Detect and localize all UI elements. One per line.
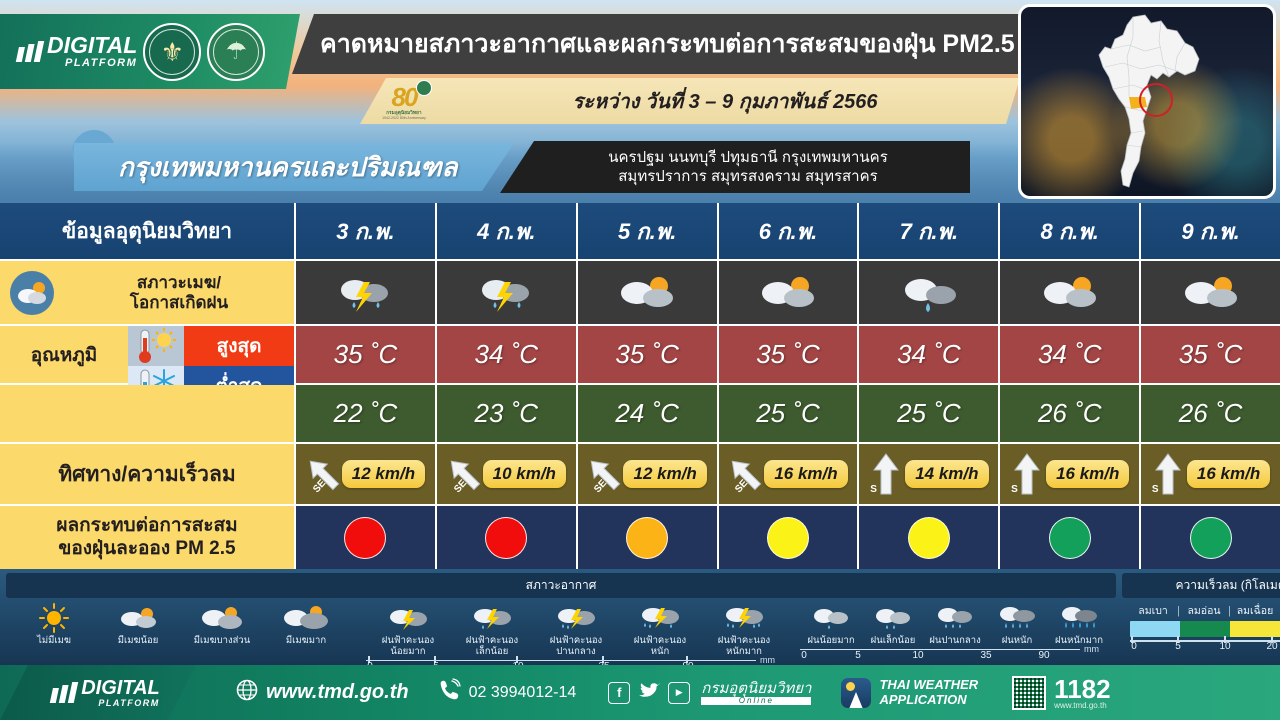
wind-row: ทิศทาง/ความเร็วลม SE 12 km/h SE	[0, 444, 1280, 506]
sky-legend: สภาวะอากาศ ไม่มีเมฆ	[6, 573, 1116, 665]
pm25-label-line-1: ผลกระทบต่อการสะสม	[56, 515, 237, 538]
thai-weather-app[interactable]: THAI WEATHER APPLICATION	[841, 678, 978, 708]
legend-rain-0: ฝนน้อยมาก	[800, 602, 862, 647]
app-name-line-1: THAI WEATHER	[879, 678, 978, 693]
pm25-cell-4	[859, 506, 1000, 569]
phone-icon	[437, 678, 461, 707]
temp-max-chip: สูงสุด	[128, 326, 294, 366]
pm25-level-dot	[1049, 517, 1091, 559]
highlight-circle-icon	[1139, 83, 1173, 117]
footer-logo-platform: PLATFORM	[81, 699, 160, 708]
thermometer-sun-icon	[128, 326, 184, 366]
sun-icon	[39, 602, 69, 634]
tmin-cell-3: 25 ˚C	[719, 385, 860, 442]
wind-cell-6: S 16 km/h	[1141, 444, 1280, 504]
thunderstorm-light-icon	[469, 602, 515, 634]
legend-storm-2: ฝนฟ้าคะนองปานกลาง	[534, 602, 618, 658]
wind-speed-pill: 16 km/h	[1046, 460, 1129, 488]
pm25-cell-1	[437, 506, 578, 569]
tmax-cell-3: 35 ˚C	[719, 326, 860, 383]
anniversary-sub: 1942-2022 80th Anniversary	[382, 116, 426, 120]
phone-contact[interactable]: 02 3994012-14	[437, 678, 577, 707]
temperature-label-group: อุณหภูมิ	[0, 326, 296, 383]
partly-cloudy-icon	[615, 272, 679, 314]
wind-scale: 0 5 10 20 30 Km/h	[1130, 639, 1280, 653]
rain-very-heavy-icon	[1058, 602, 1100, 634]
temperature-min-row: 22 ˚C 23 ˚C 24 ˚C 25 ˚C 25 ˚C 26 ˚C 26 ˚…	[0, 385, 1280, 444]
temperature-max-row: อุณหภูมิ	[0, 326, 1280, 385]
tmax-cell-2: 35 ˚C	[578, 326, 719, 383]
hotline-block: 1182 www.tmd.go.th	[1012, 676, 1110, 710]
rain-heavy-icon	[996, 602, 1038, 634]
wind-legend: ความเร็วลม (กิโลเมตร/ชั่วโมง) ลมเบา | ลม…	[1122, 573, 1280, 665]
hotline-url: www.tmd.go.th	[1054, 702, 1110, 710]
pm25-level-dot	[767, 517, 809, 559]
sky-cell-3	[719, 261, 860, 324]
tmax-cell-4: 34 ˚C	[859, 326, 1000, 383]
legend-rain-2: ฝนปานกลาง	[924, 602, 986, 647]
rain-scale: 0 5 10 35 90 mm	[800, 648, 1110, 662]
wind-direction-arrow-icon: SE	[306, 450, 340, 498]
pm25-cell-3	[719, 506, 860, 569]
tmin-cell-1: 23 ˚C	[437, 385, 578, 442]
wind-cell-2: SE 12 km/h	[578, 444, 719, 504]
website-link[interactable]: www.tmd.go.th	[236, 679, 409, 707]
day-header-1: 4 ก.พ.	[437, 203, 578, 259]
wind-direction-label: S	[1152, 484, 1159, 495]
wind-speed-pill: 12 km/h	[623, 460, 706, 488]
logo-text-platform: PLATFORM	[47, 58, 137, 69]
tmin-cell-6: 26 ˚C	[1141, 385, 1280, 442]
online-brand-tag: Online	[701, 697, 811, 705]
legend-cloud-1: มีเมฆน้อย	[96, 602, 180, 647]
logo-bars-icon	[16, 41, 44, 62]
wind-direction-arrow-icon: SE	[587, 450, 621, 498]
thunderstorm-very-heavy-icon	[721, 602, 767, 634]
website-text: www.tmd.go.th	[266, 681, 409, 704]
wind-direction-arrow-icon: SE	[447, 450, 481, 498]
sky-cell-1	[437, 261, 578, 324]
hotline-number: 1182	[1054, 676, 1110, 702]
wind-cell-4: S 14 km/h	[859, 444, 1000, 504]
wind-cell-1: SE 10 km/h	[437, 444, 578, 504]
legend-cloud-3: มีเมฆมาก	[264, 602, 348, 647]
province-line-1: นครปฐม นนทบุรี ปทุมธานี กรุงเทพมหานคร	[608, 148, 888, 167]
sky-row-label: สภาวะเมฆ/ โอกาสเกิดฝน	[0, 261, 296, 324]
partly-cloudy-icon	[1179, 272, 1243, 314]
legend-storm-1: ฝนฟ้าคะนองเล็กน้อย	[450, 602, 534, 658]
pm25-label-line-2: ของฝุ่นละออง PM 2.5	[56, 538, 237, 561]
footer-bar: DIGITAL PLATFORM www.tmd.go.th	[0, 665, 1280, 720]
rain-very-light-icon	[810, 602, 852, 634]
main-title-bar: คาดหมายสภาวะอากาศและผลกระทบต่อการสะสมของ…	[292, 14, 1032, 74]
wind-legend-title: ความเร็วลม (กิโลเมตร/ชั่วโมง)	[1122, 573, 1280, 598]
thunderstorm-moderate-icon	[553, 602, 599, 634]
youtube-icon[interactable]: ▶	[668, 682, 690, 704]
qr-code-icon[interactable]	[1012, 676, 1046, 710]
wind-direction-arrow-icon: S	[1151, 450, 1185, 498]
weather-infographic: DIGITAL PLATFORM ⚜ ☂ คาดหมายสภาวะอากาศแล…	[0, 0, 1280, 720]
rain-moderate-icon	[934, 602, 976, 634]
pm25-row: ผลกระทบต่อการสะสม ของฝุ่นละออง PM 2.5	[0, 506, 1280, 569]
wind-direction-label: S	[1011, 484, 1018, 495]
page-title: คาดหมายสภาวะอากาศและผลกระทบต่อการสะสมของ…	[320, 24, 1015, 64]
rain-light-icon	[872, 602, 914, 634]
tmin-cell-2: 24 ˚C	[578, 385, 719, 442]
legend-storm-4: ฝนฟ้าคะนองหนักมาก	[702, 602, 786, 658]
partly-cloudy-icon	[1038, 272, 1102, 314]
wind-cat-1: ลมอ่อน	[1181, 602, 1227, 619]
wind-speed-pill: 16 km/h	[764, 460, 847, 488]
social-links: f ▶ กรมอุตุนิยมวิทยา Online	[608, 680, 811, 705]
temp-max-label: สูงสุด	[184, 326, 294, 366]
legend-rain-3: ฝนหนัก	[986, 602, 1048, 647]
legend-cloud-0: ไม่มีเมฆ	[12, 602, 96, 647]
app-icon	[841, 678, 871, 708]
tmin-cell-0: 22 ˚C	[296, 385, 437, 442]
tmax-cell-0: 35 ˚C	[296, 326, 437, 383]
pm25-cell-5	[1000, 506, 1141, 569]
legend-rain-4: ฝนหนักมาก	[1048, 602, 1110, 647]
wind-cat-0: ลมเบา	[1130, 602, 1176, 619]
sky-cell-4	[859, 261, 1000, 324]
cloud-many-icon	[281, 602, 331, 634]
pm25-cell-0	[296, 506, 437, 569]
facebook-icon[interactable]: f	[608, 682, 630, 704]
royal-seal-icon: ⚜	[143, 23, 201, 81]
day-header-4: 7 ก.พ.	[859, 203, 1000, 259]
date-range-text: ระหว่าง วันที่ 3 – 9 กุมภาพันธ์ 2566	[503, 85, 878, 117]
temperature-label: อุณหภูมิ	[0, 326, 128, 383]
table-header-row: ข้อมูลอุตุนิยมวิทยา 3 ก.พ. 4 ก.พ. 5 ก.พ.…	[0, 203, 1280, 261]
table-corner-label: ข้อมูลอุตุนิยมวิทยา	[0, 203, 296, 259]
tmax-cell-1: 34 ˚C	[437, 326, 578, 383]
forecast-table: ข้อมูลอุตุนิยมวิทยา 3 ก.พ. 4 ก.พ. 5 ก.พ.…	[0, 203, 1280, 569]
thunderstorm-heavy-icon	[637, 602, 683, 634]
tmax-cell-5: 34 ˚C	[1000, 326, 1141, 383]
anniversary-logo: 80 กรมอุตุนิยมวิทยา 1942-2022 80th Anniv…	[368, 76, 440, 130]
wind-speed-pill: 10 km/h	[483, 460, 566, 488]
legend-storm-3: ฝนฟ้าคะนองหนัก	[618, 602, 702, 658]
legend-section: สภาวะอากาศ ไม่มีเมฆ	[0, 569, 1280, 665]
cloud-sun-few-icon	[116, 602, 160, 634]
anniversary-org: กรมอุตุนิยมวิทยา	[386, 109, 421, 116]
wind-direction-arrow-icon: S	[1010, 450, 1044, 498]
footer-logo-digital: DIGITAL	[81, 678, 160, 698]
wind-speed-pill: 14 km/h	[905, 460, 988, 488]
pm25-cell-6	[1141, 506, 1280, 569]
wind-speed-pill: 12 km/h	[342, 460, 425, 488]
sky-cell-6	[1141, 261, 1280, 324]
province-line-2: สมุทรปราการ สมุทรสงคราม สมุทรสาคร	[618, 167, 877, 186]
digital-platform-logo: DIGITAL PLATFORM	[18, 34, 137, 69]
thailand-map-card	[1018, 4, 1276, 199]
wind-row-label: ทิศทาง/ความเร็วลม	[0, 444, 296, 504]
pm25-cell-2	[578, 506, 719, 569]
wind-direction-arrow-icon: SE	[728, 450, 762, 498]
wind-speed-pill: 16 km/h	[1187, 460, 1270, 488]
sky-cell-5	[1000, 261, 1141, 324]
anniversary-number: 80	[392, 86, 417, 109]
legend-storm-0: ฝนฟ้าคะนองน้อยมาก	[366, 602, 450, 658]
sky-legend-title: สภาวะอากาศ	[6, 573, 1116, 598]
pm25-level-dot	[1190, 517, 1232, 559]
thunderstorm-icon	[334, 270, 396, 316]
wind-direction-arrow-icon: S	[869, 450, 903, 498]
meteorology-data-label: ข้อมูลอุตุนิยมวิทยา	[62, 215, 232, 248]
region-name: กรุงเทพมหานครและปริมณฑล	[118, 147, 457, 188]
sky-cell-2	[578, 261, 719, 324]
pm25-row-label: ผลกระทบต่อการสะสม ของฝุ่นละออง PM 2.5	[0, 506, 296, 569]
province-list: นครปฐม นนทบุรี ปทุมธานี กรุงเทพมหานคร สม…	[500, 141, 970, 193]
phone-number: 02 3994012-14	[469, 684, 577, 702]
pm25-level-dot	[485, 517, 527, 559]
sky-cell-0	[296, 261, 437, 324]
digital-platform-logo-block: DIGITAL PLATFORM ⚜ ☂	[0, 14, 300, 89]
day-header-5: 8 ก.พ.	[1000, 203, 1141, 259]
wind-color-bar	[1130, 621, 1280, 637]
tmin-cell-4: 25 ˚C	[859, 385, 1000, 442]
day-header-6: 9 ก.พ.	[1141, 203, 1280, 259]
tmin-cell-5: 26 ˚C	[1000, 385, 1141, 442]
cloud-sun-partly-icon	[198, 602, 246, 634]
pm25-level-dot	[626, 517, 668, 559]
region-name-bar: กรุงเทพมหานครและปริมณฑล	[74, 143, 514, 191]
cloud-sun-badge-icon	[10, 271, 54, 315]
wind-cat-2: ลมเฉื่อย	[1232, 602, 1278, 619]
tmax-cell-6: 35 ˚C	[1141, 326, 1280, 383]
thunderstorm-icon	[475, 270, 537, 316]
legend-cloud-2: มีเมฆบางส่วน	[180, 602, 264, 647]
twitter-icon[interactable]	[637, 680, 661, 705]
legend-rain-1: ฝนเล็กน้อย	[862, 602, 924, 647]
temperature-min-spacer	[0, 385, 296, 442]
footer-logo-bars-icon	[50, 682, 78, 703]
wind-direction-label: S	[870, 484, 877, 495]
sky-condition-row: สภาวะเมฆ/ โอกาสเกิดฝน	[0, 261, 1280, 326]
app-name-line-2: APPLICATION	[879, 693, 978, 708]
globe-icon	[236, 679, 258, 707]
anniversary-medal-icon	[416, 80, 432, 96]
wind-cell-0: SE 12 km/h	[296, 444, 437, 504]
tmd-seal-icon: ☂	[207, 23, 265, 81]
partly-cloudy-icon	[756, 272, 820, 314]
footer-logo: DIGITAL PLATFORM	[0, 665, 196, 720]
online-brand: กรมอุตุนิยมวิทยา Online	[701, 681, 811, 705]
day-header-0: 3 ก.พ.	[296, 203, 437, 259]
pm25-level-dot	[344, 517, 386, 559]
sky-row-label-text: สภาวะเมฆ/ โอกาสเกิดฝน	[64, 273, 294, 312]
day-header-2: 5 ก.พ.	[578, 203, 719, 259]
header-banner: DIGITAL PLATFORM ⚜ ☂ คาดหมายสภาวะอากาศแล…	[0, 0, 1280, 203]
logo-text-digital: DIGITAL	[47, 34, 137, 57]
cloudy-with-rain-icon	[897, 270, 961, 316]
online-brand-name: กรมอุตุนิยมวิทยา	[701, 681, 811, 696]
wind-cell-3: SE 16 km/h	[719, 444, 860, 504]
pm25-level-dot	[908, 517, 950, 559]
thunderstorm-very-light-icon	[385, 602, 431, 634]
wind-cell-5: S 16 km/h	[1000, 444, 1141, 504]
day-header-3: 6 ก.พ.	[719, 203, 860, 259]
date-range-bar: ระหว่าง วันที่ 3 – 9 กุมภาพันธ์ 2566	[360, 78, 1020, 124]
